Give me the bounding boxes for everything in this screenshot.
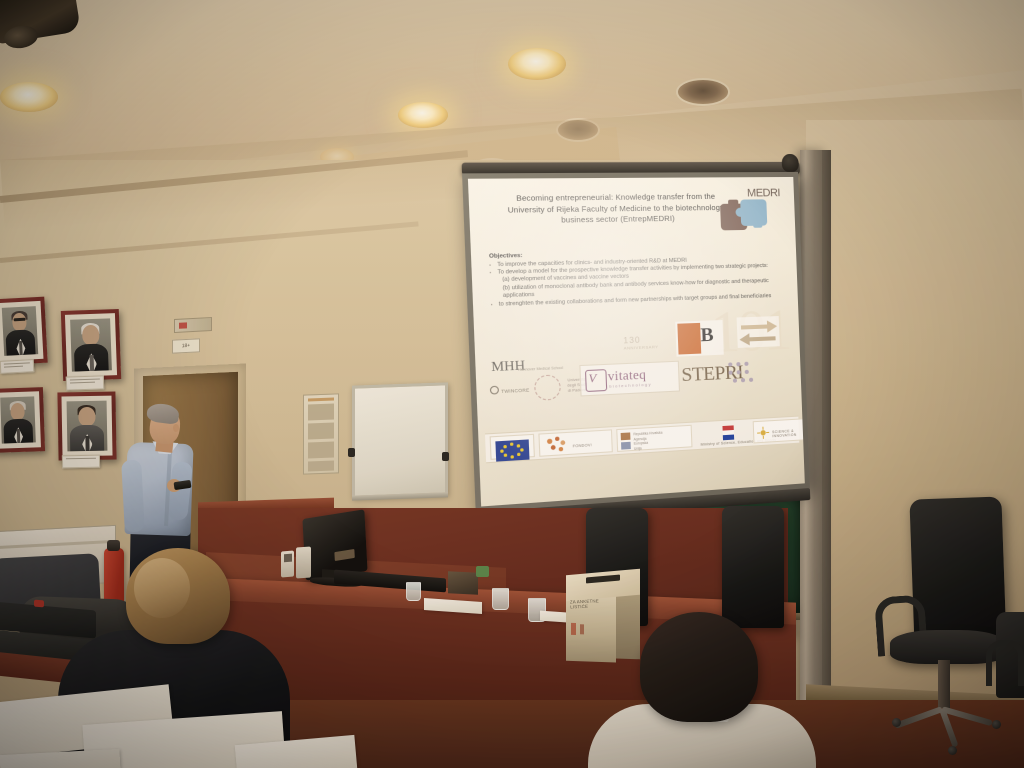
presenter-arm-left <box>121 460 145 533</box>
puzzle-tab-icon <box>753 220 762 228</box>
poster-block <box>308 442 334 459</box>
framed-portrait <box>0 297 48 366</box>
green-object <box>476 566 489 577</box>
portrait-image <box>67 401 108 452</box>
science-innovation-label: SCIENCE & INNOVATION <box>772 428 805 438</box>
chair-castor <box>948 746 957 755</box>
logo-padova-seal <box>534 374 561 401</box>
chair-castor <box>992 720 1001 729</box>
ceiling-light-on <box>508 48 566 80</box>
portrait-image <box>2 306 38 356</box>
slide-objectives: Objectives: To improve the capacities fo… <box>489 248 782 309</box>
portrait-tie <box>17 429 21 443</box>
screen-roller-mount <box>781 154 798 172</box>
desk-device <box>296 546 311 578</box>
logo-arrow-institute <box>737 316 780 348</box>
tall-chair[interactable] <box>722 506 784 628</box>
medri-logo-text: MEDRI <box>747 187 780 199</box>
desk-device <box>281 551 294 578</box>
ministry-block-text: Republika HrvatskaAgencija <box>633 431 662 442</box>
slide-title: Becoming entrepreneurial: Knowledge tran… <box>491 191 739 227</box>
audience-2-head <box>640 612 758 722</box>
box-print-mark <box>571 623 576 635</box>
fondovi-text: FONDOVI <box>573 443 592 448</box>
eu-flag-icon <box>495 439 529 461</box>
logo-mhh-subtitle: Hannover Medical School <box>518 366 563 372</box>
whiteboard-knob <box>442 452 449 461</box>
logo-vitateq-subtitle: biotechnology <box>609 382 652 389</box>
vitateq-v-glyph: V <box>588 371 597 387</box>
poster-block <box>308 404 334 421</box>
box-side <box>616 588 640 659</box>
portrait-head <box>82 325 99 345</box>
office-chair-2-armrest <box>986 640 1024 686</box>
framed-portrait <box>57 391 116 460</box>
frame-mat <box>0 301 43 361</box>
logo-twincore-text: TWINCORE <box>501 387 530 394</box>
monitor-badge <box>334 549 354 561</box>
frame-mat <box>61 396 112 457</box>
wall-indicator-light <box>174 317 212 333</box>
puzzle-tab-icon <box>728 200 738 208</box>
ceiling-light-on <box>0 82 58 112</box>
logo-dot-grid <box>726 359 757 391</box>
fire-extinguisher <box>104 548 124 604</box>
equipment-indicator <box>34 600 44 608</box>
small-stool <box>448 571 478 595</box>
plastic-cup <box>406 582 421 601</box>
frame-mat <box>0 391 41 449</box>
science-star-icon <box>757 426 769 439</box>
ib-orange-block <box>677 323 701 355</box>
arrow-exchange-icon <box>737 316 780 348</box>
wall-notice-poster <box>303 393 339 474</box>
projection-screen: 101 Becoming entrepreneurial: Knowledge … <box>468 177 805 507</box>
poster-block <box>308 423 334 440</box>
portrait-head <box>10 402 25 420</box>
whiteboard[interactable] <box>352 382 448 498</box>
logo-eu <box>490 434 535 460</box>
logo-anniversary: 130ANNIVERSARY <box>623 335 658 351</box>
logo-ib: B <box>675 320 724 357</box>
croatia-flag-icon <box>722 425 734 440</box>
poster-block <box>308 461 334 472</box>
presenter-ear <box>173 424 179 432</box>
audience-1-head <box>126 548 230 644</box>
portrait-tie <box>85 436 89 451</box>
portrait-image <box>0 396 36 443</box>
portrait-image <box>70 318 112 371</box>
portrait-nameplate <box>0 359 34 374</box>
box-print-mark <box>580 624 584 634</box>
ballot-box: ZA ANKETNE LISTIĆE <box>566 571 640 664</box>
fondovi-icon <box>543 435 572 456</box>
chair-castor <box>892 718 901 727</box>
conference-room-photo: 18+ 101 Becoming entrepreneurial: Knowle… <box>0 0 1024 768</box>
plastic-cup <box>492 588 509 610</box>
medri-logo: MEDRI <box>719 189 783 236</box>
frame-mat <box>65 313 117 377</box>
extinguisher-handle <box>107 540 120 551</box>
logo-fondovi: FONDOVI <box>538 429 612 456</box>
framed-portrait <box>0 387 45 453</box>
portrait-nameplate <box>62 455 100 469</box>
screen-frame: 101 Becoming entrepreneurial: Knowledge … <box>462 172 810 512</box>
door-sign: 18+ <box>172 338 200 353</box>
logo-mhh: MHH <box>491 357 525 375</box>
portrait-nameplate <box>66 375 104 390</box>
pillar-edge <box>822 150 831 768</box>
ib-letters: B <box>700 324 714 347</box>
ballot-box-label: ZA ANKETNE LISTIĆE <box>570 598 617 610</box>
portrait-head <box>12 312 27 331</box>
ceiling-light-on <box>398 102 448 128</box>
portrait-head <box>78 407 95 426</box>
portrait-tie <box>90 355 94 371</box>
logo-twincore: TWINCORE <box>490 384 530 394</box>
logo-vitateq: V vitateq biotechnology <box>579 361 680 397</box>
poster-caption-bar <box>308 398 334 402</box>
whiteboard-knob <box>348 448 355 457</box>
logo-anniversary-caption: ANNIVERSARY <box>624 344 659 351</box>
framed-portrait <box>61 309 121 381</box>
logo-science-innovation: SCIENCE & INNOVATION <box>753 418 805 444</box>
projection-screen-assembly: 101 Becoming entrepreneurial: Knowledge … <box>462 168 814 523</box>
chair-base <box>896 700 1000 714</box>
ministry-block-text-2: EuropskaUnija <box>634 441 649 451</box>
ceiling-light-off <box>676 78 730 106</box>
logo-ministry-blocks: Republika HrvatskaAgencija EuropskaUnija <box>616 425 692 452</box>
